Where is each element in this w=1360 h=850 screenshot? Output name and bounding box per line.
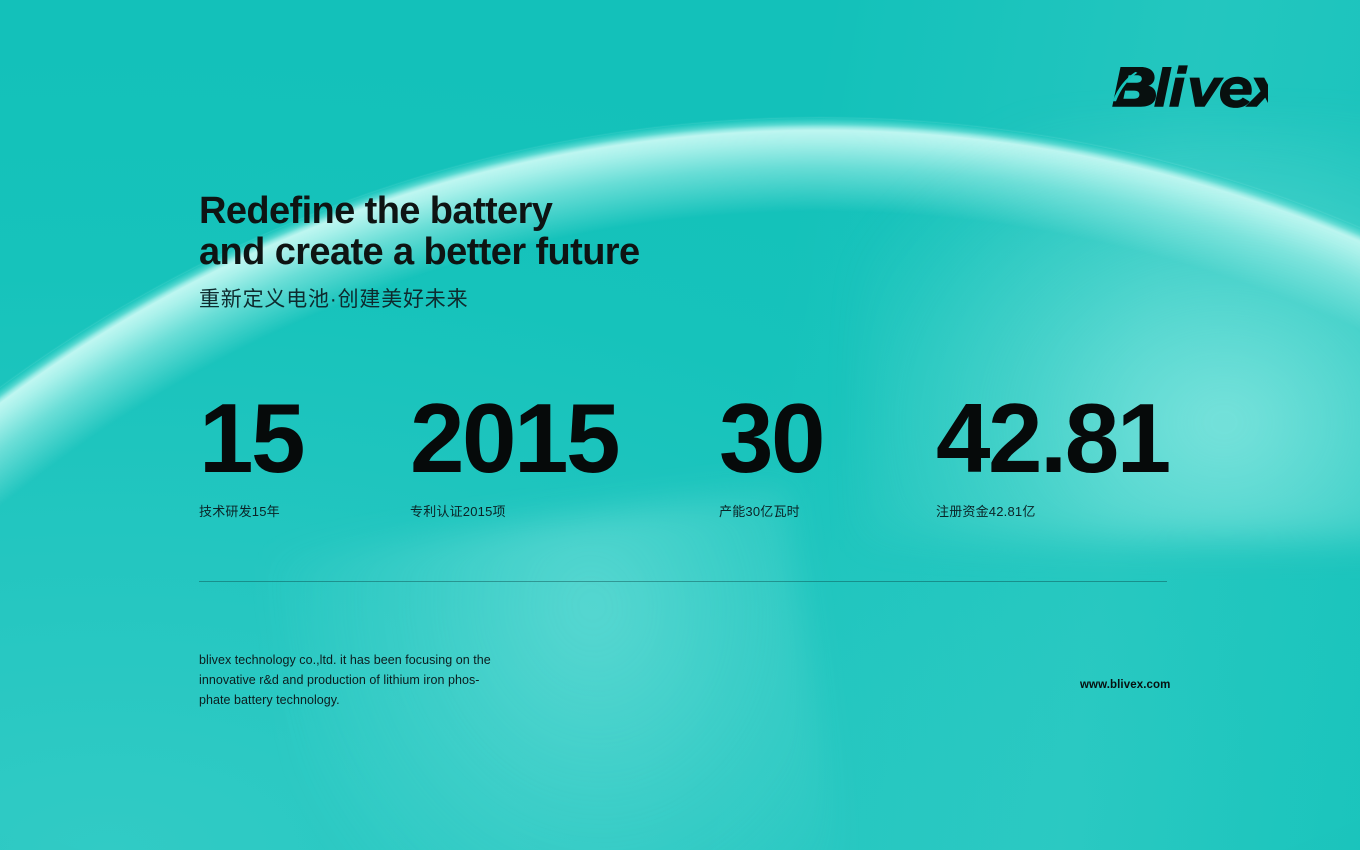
section-divider xyxy=(199,581,1167,582)
stat-label: 产能30亿瓦时 xyxy=(719,504,823,520)
poster-canvas: Redefine the battery and create a better… xyxy=(0,0,1360,850)
stat-label: 技术研发15年 xyxy=(199,504,303,520)
stat-value: 42.81 xyxy=(936,386,1169,490)
hero-subtitle: 重新定义电池·创建美好未来 xyxy=(199,283,468,313)
stat-value: 2015 xyxy=(410,386,618,490)
stat-value: 15 xyxy=(199,386,303,490)
blivex-logo xyxy=(1106,64,1268,110)
description-line-3: phate battery technology. xyxy=(199,690,499,710)
hero-headline: Redefine the battery and create a better… xyxy=(199,191,640,273)
stat-value: 30 xyxy=(719,386,823,490)
stats-row: 15 技术研发15年 2015 专利认证2015项 30 产能30亿瓦时 42.… xyxy=(199,386,1185,531)
description-line-1: blivex technology co.,ltd. it has been f… xyxy=(199,650,499,670)
stat-item: 42.81 注册资金42.81亿 xyxy=(936,386,1169,520)
stat-item: 30 产能30亿瓦时 xyxy=(719,386,823,520)
stat-label: 注册资金42.81亿 xyxy=(936,504,1169,520)
description-line-2: innovative r&d and production of lithium… xyxy=(199,670,499,690)
stat-label: 专利认证2015项 xyxy=(410,504,618,520)
website-url[interactable]: www.blivex.com xyxy=(1080,679,1170,691)
headline-line-1: Redefine the battery xyxy=(199,191,640,232)
stat-item: 15 技术研发15年 xyxy=(199,386,303,520)
blivex-wordmark-icon xyxy=(1106,64,1268,110)
poster-content: Redefine the battery and create a better… xyxy=(0,0,1360,850)
company-description: blivex technology co.,ltd. it has been f… xyxy=(199,650,499,710)
stat-item: 2015 专利认证2015项 xyxy=(410,386,618,520)
headline-line-2: and create a better future xyxy=(199,232,640,273)
